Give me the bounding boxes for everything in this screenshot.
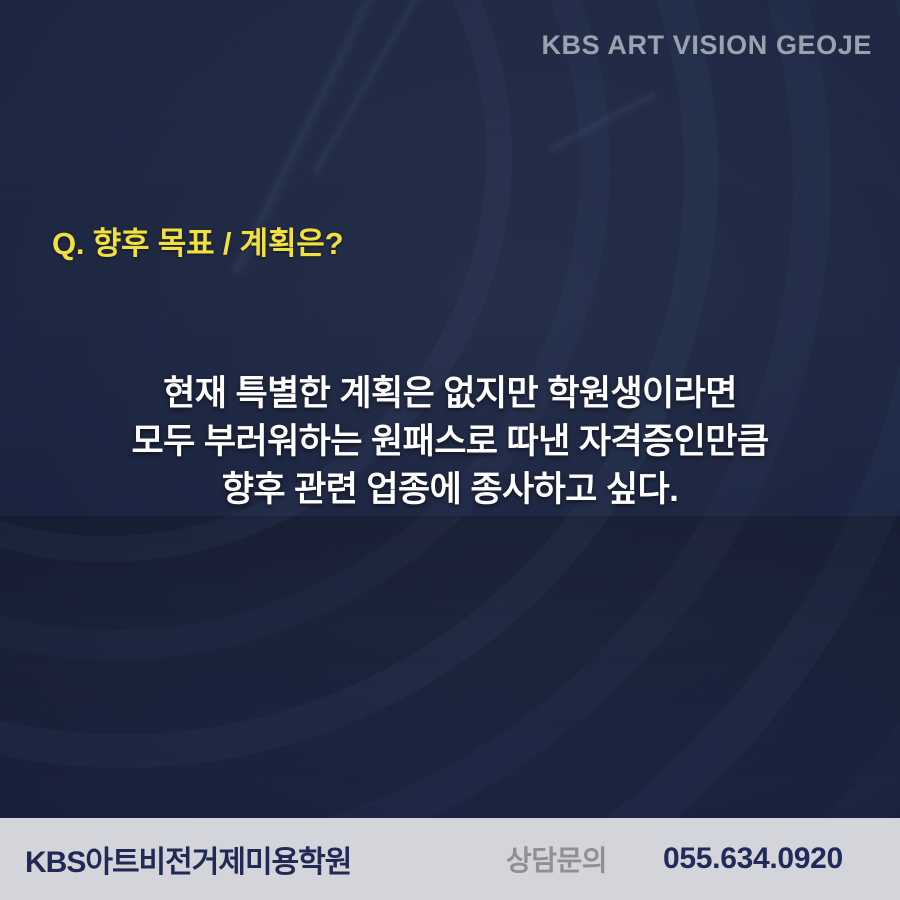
promo-slide: KBS ART VISION GEOJE Q. 향후 목표 / 계획은? 현재 …	[0, 0, 900, 900]
background-band-bottom	[0, 516, 900, 818]
answer-line-2: 모두 부러워하는 원패스로 따낸 자격증인만큼	[0, 418, 900, 466]
footer-academy-name: KBS아트비전거제미용학원	[25, 837, 351, 881]
answer-text-block: 현재 특별한 계획은 없지만 학원생이라면 모두 부러워하는 원패스로 따낸 자…	[0, 370, 900, 514]
footer-bar: KBS아트비전거제미용학원 상담문의 055.634.0920	[0, 818, 900, 900]
question-heading: Q. 향후 목표 / 계획은?	[52, 218, 343, 263]
brand-watermark: KBS ART VISION GEOJE	[541, 30, 872, 61]
answer-line-3: 향후 관련 업종에 종사하고 싶다.	[0, 466, 900, 514]
footer-contact-label: 상담문의	[506, 839, 607, 879]
footer-phone-number[interactable]: 055.634.0920	[663, 842, 843, 876]
answer-line-1: 현재 특별한 계획은 없지만 학원생이라면	[0, 370, 900, 418]
